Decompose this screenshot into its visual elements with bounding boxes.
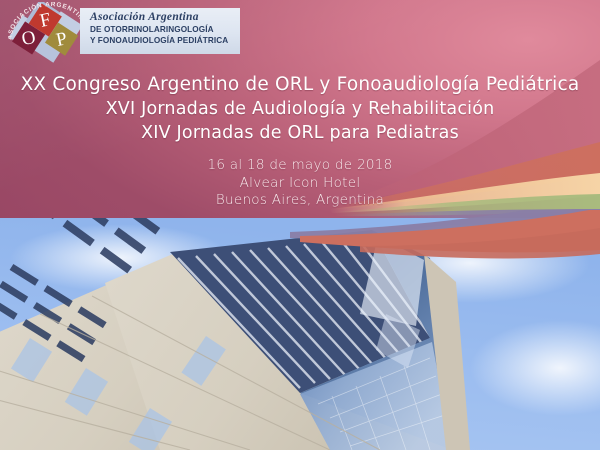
logo-diamond-mark: O F P ASOCIACIÓN ARGENTINA [8, 2, 86, 64]
title-block: XX Congreso Argentino de ORL y Fonoaudio… [0, 72, 600, 145]
conference-banner: O F P ASOCIACIÓN ARGENTINA Asociación Ar… [0, 0, 600, 450]
logo-text-line-3: Y FONOAUDIOLOGÍA PEDIÁTRICA [90, 35, 234, 46]
logo-text-line-2: DE OTORRINOLARINGOLOGÍA [90, 24, 234, 35]
event-dates: 16 al 18 de mayo de 2018 [0, 157, 600, 175]
title-line-2: XVI Jornadas de Audiología y Rehabilitac… [0, 97, 600, 121]
title-line-3: XIV Jornadas de ORL para Pediatras [0, 121, 600, 145]
event-hotel: Alvear Icon Hotel [0, 175, 600, 193]
logo-nameplate: Asociación Argentina DE OTORRINOLARINGOL… [80, 8, 240, 54]
association-logo: O F P ASOCIACIÓN ARGENTINA Asociación Ar… [8, 2, 240, 64]
venue-block: 16 al 18 de mayo de 2018 Alvear Icon Hot… [0, 157, 600, 210]
logo-text-line-1: Asociación Argentina [90, 11, 234, 24]
event-city: Buenos Aires, Argentina [0, 192, 600, 210]
header-band: O F P ASOCIACIÓN ARGENTINA Asociación Ar… [0, 0, 600, 222]
title-line-1: XX Congreso Argentino de ORL y Fonoaudio… [0, 72, 600, 97]
hotel-photo [0, 218, 600, 450]
